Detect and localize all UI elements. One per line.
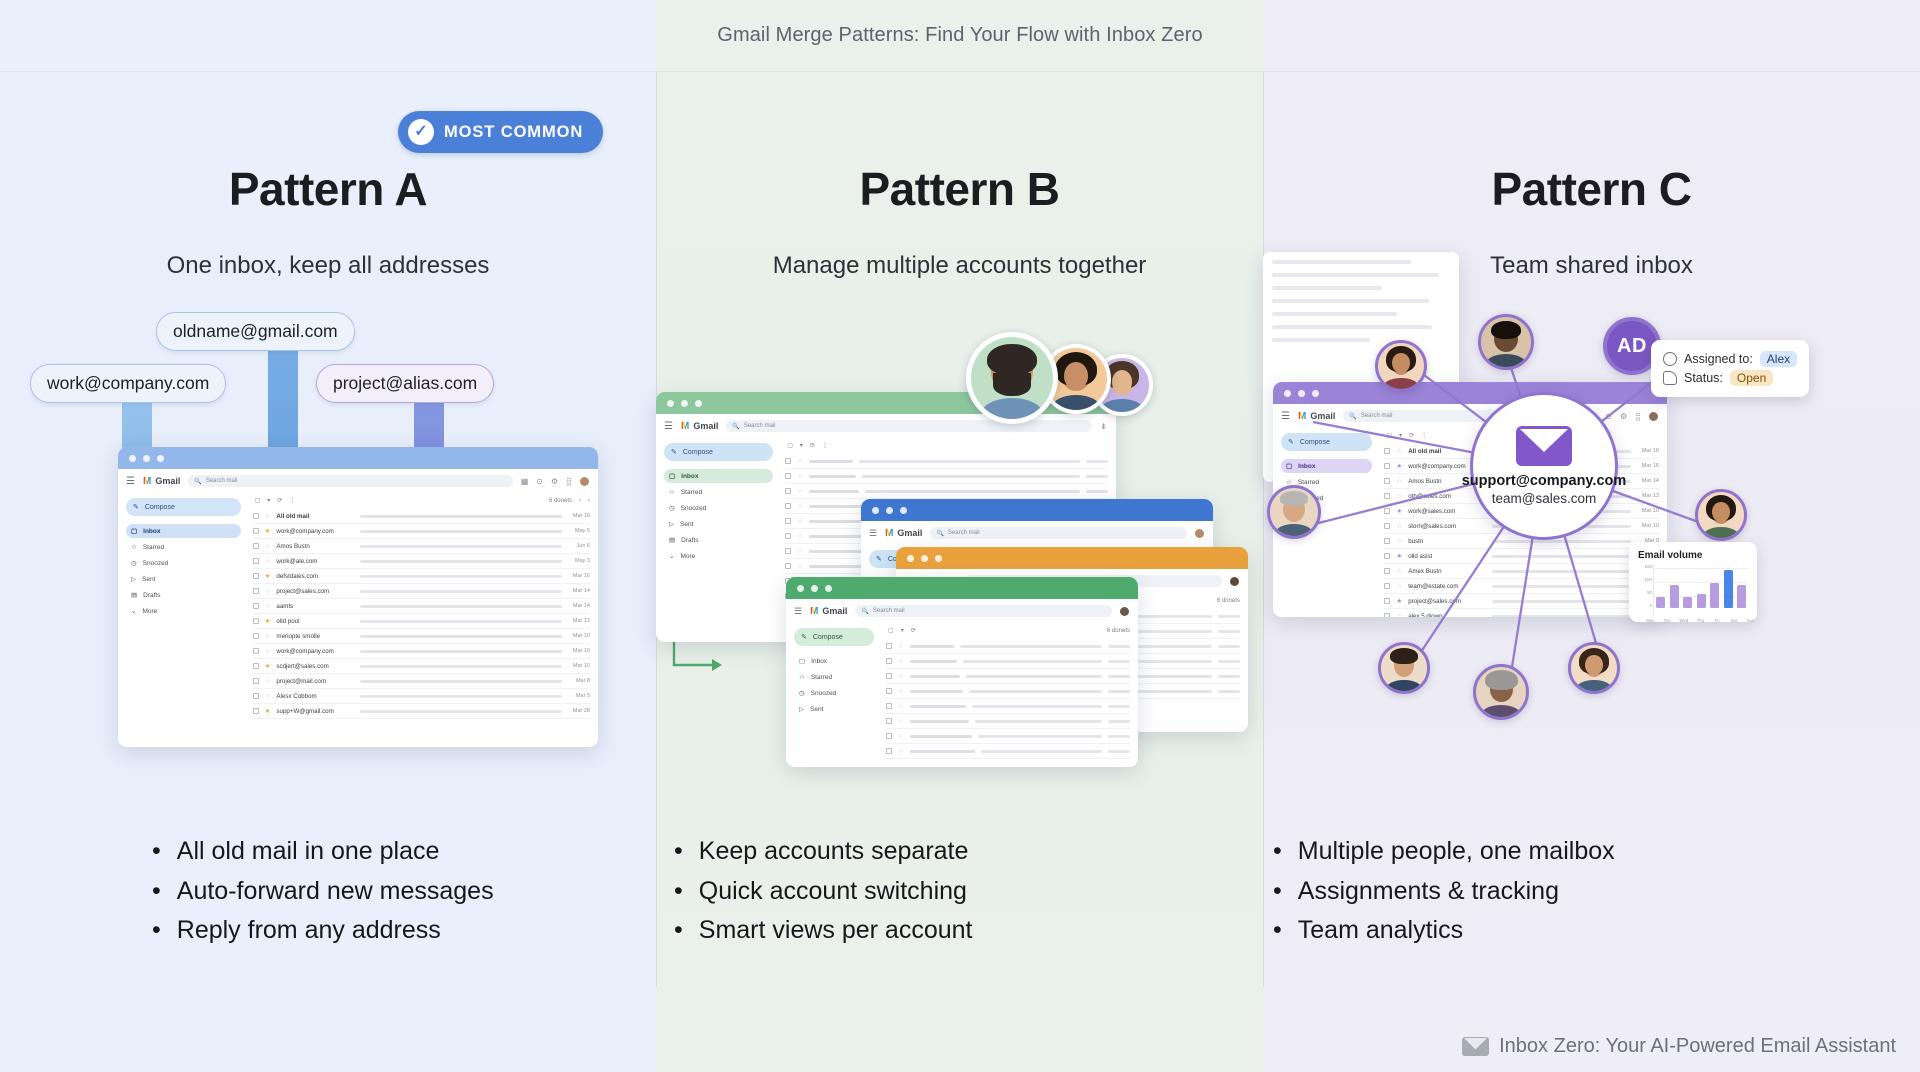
avatar-member-bottom-center[interactable]	[1473, 664, 1529, 720]
row-snippet	[360, 575, 562, 578]
row-snippet	[865, 490, 1080, 493]
pattern-a-title: Pattern A	[0, 162, 656, 216]
page-header: Gmail Merge Patterns: Find Your Flow wit…	[0, 0, 1920, 72]
gmail-toolbar-a: ▢ ▾ ⟳ ⋮ 6 donets ‹ ›	[253, 495, 590, 509]
row-date: Mar 13	[568, 618, 590, 624]
table-row[interactable]: ☆project@mail.comMar 8	[253, 674, 590, 689]
window-dot-close[interactable]	[872, 507, 879, 514]
table-row[interactable]: ☆	[886, 669, 1130, 684]
table-row[interactable]: ☆All old mailMar 18	[253, 509, 590, 524]
window-dot-maximize[interactable]	[695, 400, 702, 407]
gmail-list-b4: ▢ ▾ ⟳ 6 donets ☆☆☆☆☆☆☆☆	[881, 619, 1138, 767]
row-subject	[809, 505, 862, 508]
compose-label: Compose	[145, 504, 175, 511]
sidebar-item-snoozed[interactable]: ◷ Snoozed	[794, 686, 874, 700]
chart-y-tick: 50	[1647, 590, 1652, 595]
sidebar-item-snoozed[interactable]: ◷ Snoozed	[664, 501, 773, 515]
row-checkbox[interactable]	[253, 558, 259, 564]
row-date	[1086, 460, 1108, 463]
clock-icon: ◷	[669, 504, 675, 512]
row-subject	[809, 475, 856, 478]
help-icon[interactable]: ⊙	[536, 477, 543, 486]
row-snippet	[360, 545, 562, 548]
sidebar-item-drafts[interactable]: ▤ Drafts	[126, 588, 241, 602]
avatar-icon[interactable]	[1230, 577, 1239, 586]
sidebar-item-sent[interactable]: ▷ Sent	[126, 572, 241, 586]
window-dot-minimize[interactable]	[811, 585, 818, 592]
refresh-icon[interactable]: ⟳	[911, 627, 916, 634]
window-dot-maximize[interactable]	[935, 555, 942, 562]
assignee-icon	[1663, 352, 1677, 366]
hamburger-icon[interactable]: ☰	[126, 476, 135, 487]
email-pill-work[interactable]: work@company.com	[30, 364, 226, 403]
star-icon[interactable]: ☆	[265, 602, 271, 610]
star-icon[interactable]: ☆	[898, 747, 904, 755]
row-subject	[809, 520, 865, 523]
row-checkbox[interactable]	[785, 473, 791, 479]
shared-inbox-hub[interactable]: support@company.com team@sales.com	[1470, 392, 1618, 540]
row-checkbox[interactable]	[253, 663, 259, 669]
chevron-down-icon[interactable]: ▾	[901, 627, 904, 634]
star-icon: ☆	[131, 543, 137, 551]
row-checkbox[interactable]	[253, 573, 259, 579]
gmail-m-icon: M	[885, 528, 893, 539]
row-snippet	[360, 710, 562, 713]
search-input-b4[interactable]: 🔍 Search mail	[855, 605, 1112, 617]
table-row[interactable]: ☆	[785, 469, 1108, 484]
gmail-m-icon: M	[681, 421, 689, 432]
message-count: 6 donets	[1217, 598, 1240, 604]
sidebar-item-starred[interactable]: ☆ Starred	[126, 540, 241, 554]
row-snippet	[862, 475, 1080, 478]
refresh-icon[interactable]: ⟳	[277, 497, 282, 504]
chart-bar	[1697, 594, 1706, 608]
sidebar-item-more[interactable]: ⌄ More	[664, 549, 773, 563]
compose-button-b4[interactable]: ✎ Compose	[794, 628, 874, 646]
table-row[interactable]: ★olld poolMar 13	[253, 614, 590, 629]
row-checkbox[interactable]	[886, 643, 892, 649]
row-snippet	[981, 750, 1102, 753]
sidebar-label: Inbox	[681, 473, 698, 480]
apps-icon[interactable]: ▦	[521, 477, 529, 486]
grid-icon[interactable]: ⣿	[566, 477, 572, 486]
search-placeholder: Search mail	[206, 478, 238, 484]
more-options-icon[interactable]: ⋮	[822, 442, 828, 449]
row-checkbox[interactable]	[886, 673, 892, 679]
assignment-card[interactable]: Assigned to: Alex Status: Open	[1651, 340, 1809, 397]
star-icon[interactable]: ☆	[797, 472, 803, 480]
row-checkbox[interactable]	[785, 563, 791, 569]
chart-x-axis: MonTueWedThuFriSatSun	[1646, 618, 1755, 623]
row-date	[1108, 720, 1130, 723]
row-date	[1218, 615, 1240, 618]
star-icon[interactable]: ☆	[898, 732, 904, 740]
star-icon[interactable]: ☆	[797, 532, 803, 540]
row-checkbox[interactable]	[785, 458, 791, 464]
star-icon[interactable]: ☆	[898, 717, 904, 725]
pencil-icon: ✎	[671, 448, 677, 456]
table-row[interactable]: ☆meriopte smolleMar 10	[253, 629, 590, 644]
star-icon[interactable]: ☆	[898, 702, 904, 710]
table-row[interactable]: ★scdjert@sales.comMar 10	[253, 659, 590, 674]
gmail-list-a: ▢ ▾ ⟳ ⋮ 6 donets ‹ › ☆All old mailMar 18…	[248, 489, 598, 747]
list-item: Team analytics	[1273, 911, 1920, 950]
row-checkbox[interactable]	[253, 633, 259, 639]
row-subject: aamts	[276, 603, 354, 610]
star-icon[interactable]: ☆	[265, 692, 271, 700]
chevron-down-icon[interactable]: ▾	[800, 442, 803, 449]
row-subject: defstdales.com	[276, 573, 354, 580]
star-icon[interactable]: ☆	[898, 687, 904, 695]
chart-y-axis: 150100500	[1638, 564, 1653, 614]
sidebar-label: Sent	[142, 576, 155, 583]
window-dot-close[interactable]	[907, 555, 914, 562]
row-snippet	[360, 605, 562, 608]
star-icon[interactable]: ★	[265, 662, 271, 670]
row-checkbox[interactable]	[253, 543, 259, 549]
row-checkbox[interactable]	[785, 488, 791, 494]
sidebar-item-inbox[interactable]: ▢ Inbox	[794, 654, 874, 668]
star-icon[interactable]: ☆	[797, 547, 803, 555]
row-checkbox[interactable]	[785, 548, 791, 554]
window-dot-close[interactable]	[129, 455, 136, 462]
row-date	[1086, 475, 1108, 478]
gmail-header: ☰ M Gmail 🔍 Search mail	[861, 521, 1213, 541]
sidebar-item-sent[interactable]: ▷ Sent	[794, 702, 874, 716]
hamburger-icon[interactable]: ☰	[794, 606, 802, 617]
clock-icon: ◷	[799, 689, 805, 697]
pattern-c-column: Pattern C Team shared inbox	[1263, 72, 1920, 1072]
star-icon[interactable]: ☆	[265, 632, 271, 640]
envelope-icon	[1516, 426, 1572, 466]
star-icon[interactable]: ☆	[898, 657, 904, 665]
row-subject: olld pool	[276, 618, 354, 625]
sidebar-item-more[interactable]: ⌄ More	[126, 604, 241, 618]
table-row[interactable]: ☆aamtsMar 14	[253, 599, 590, 614]
star-icon[interactable]: ☆	[797, 457, 803, 465]
table-row[interactable]: ☆	[886, 699, 1130, 714]
window-dot-minimize[interactable]	[143, 455, 150, 462]
gmail-sidebar-b: ✎ Compose ▢ Inbox ☆ Starred ◷ Snoozed	[656, 434, 780, 642]
row-subject	[809, 490, 859, 493]
row-checkbox[interactable]	[253, 618, 259, 624]
table-row[interactable]: ☆project@sales.comMar 14	[253, 584, 590, 599]
window-dot-maximize[interactable]	[825, 585, 832, 592]
row-date: May 5	[568, 528, 590, 534]
table-row[interactable]: ☆	[886, 714, 1130, 729]
star-icon[interactable]: ☆	[265, 587, 271, 595]
gmail-window-a[interactable]: ☰ M Gmail 🔍 Search mail ▦ ⊙ ⚙ ⣿ ✎	[118, 447, 598, 747]
filter-icon[interactable]: ⇟	[1100, 422, 1107, 431]
table-row[interactable]: ☆Alesx CobbomMar 5	[253, 689, 590, 704]
inbox-icon: ▢	[669, 472, 675, 480]
chart-x-tick: Fri	[1713, 618, 1722, 623]
sidebar-item-starred[interactable]: ☆ Starred	[664, 485, 773, 499]
sidebar-label: Starred	[811, 674, 832, 681]
sidebar-label: Sent	[810, 706, 823, 713]
window-dot-maximize[interactable]	[157, 455, 164, 462]
row-date: Mar 18	[568, 513, 590, 519]
window-titlebar	[118, 447, 598, 469]
row-checkbox[interactable]	[253, 708, 259, 714]
star-icon[interactable]: ☆	[265, 557, 271, 565]
table-row[interactable]: ★work@company.comMay 5	[253, 524, 590, 539]
table-row[interactable]: ★supp+W@gmail.comMar 28	[253, 704, 590, 719]
status-row: Status: Open	[1663, 370, 1797, 386]
row-date: Mar 16	[568, 573, 590, 579]
assignment-value: Alex	[1760, 351, 1797, 367]
row-snippet	[960, 645, 1102, 648]
table-row[interactable]: ☆	[886, 744, 1130, 759]
gmail-brand-label: Gmail	[693, 421, 718, 431]
star-icon[interactable]: ☆	[265, 677, 271, 685]
window-dot-minimize[interactable]	[921, 555, 928, 562]
row-checkbox[interactable]	[785, 533, 791, 539]
avatar-member-upper-left[interactable]	[1375, 340, 1427, 392]
star-icon[interactable]: ☆	[797, 562, 803, 570]
row-date	[1108, 660, 1130, 663]
chart-bar	[1670, 585, 1679, 608]
row-date	[1108, 690, 1130, 693]
list-item: Smart views per account	[674, 911, 1263, 950]
star-icon[interactable]: ☆	[797, 487, 803, 495]
list-item: Assignments & tracking	[1273, 872, 1920, 911]
list-item: All old mail in one place	[152, 832, 656, 871]
row-date: Mar 14	[568, 588, 590, 594]
next-page-icon[interactable]: ›	[588, 498, 590, 504]
tag-icon	[1663, 371, 1677, 385]
send-icon: ▷	[669, 520, 674, 528]
row-snippet	[966, 675, 1102, 678]
row-checkbox[interactable]	[886, 748, 892, 754]
table-row[interactable]: ☆	[785, 454, 1108, 469]
search-input-b[interactable]: 🔍 Search mail	[726, 420, 1092, 432]
gmail-window-b-front[interactable]: ☰ M Gmail 🔍 Search mail ✎ Compose	[786, 577, 1138, 767]
gmail-toolbar-b4: ▢ ▾ ⟳ 6 donets	[886, 625, 1130, 639]
row-checkbox[interactable]	[253, 678, 259, 684]
table-row[interactable]: ☆work@ale.comMay 3	[253, 554, 590, 569]
star-icon[interactable]: ☆	[797, 502, 803, 510]
chart-x-tick: Sat	[1729, 618, 1738, 623]
row-date	[1086, 490, 1108, 493]
avatar-member-left[interactable]	[1267, 485, 1321, 539]
row-date	[1108, 750, 1130, 753]
settings-icon[interactable]: ⚙	[551, 477, 558, 486]
list-item: Keep accounts separate	[674, 832, 1263, 871]
select-all-checkbox[interactable]: ▢	[888, 627, 894, 634]
row-subject: Amos Bustn	[276, 543, 354, 550]
gmail-body-a: ✎ Compose ▢ Inbox ☆ Starred ◷ Snoozed	[118, 489, 598, 747]
avatar-member-bottom-left[interactable]	[1378, 642, 1430, 694]
pattern-b-column: Pattern B Manage multiple accounts toget…	[656, 72, 1263, 1072]
row-subject	[910, 675, 960, 678]
row-checkbox[interactable]	[253, 648, 259, 654]
sidebar-label: Starred	[681, 489, 702, 496]
star-icon[interactable]: ☆	[898, 642, 904, 650]
pencil-icon: ✎	[801, 633, 807, 641]
row-checkbox[interactable]	[253, 513, 259, 519]
sidebar-label: Drafts	[681, 537, 698, 544]
select-all-checkbox[interactable]: ▢	[787, 442, 793, 449]
table-row[interactable]: ☆	[886, 684, 1130, 699]
pattern-a-benefits: All old mail in one place Auto-forward n…	[0, 832, 656, 950]
row-snippet	[972, 705, 1102, 708]
chart-bar	[1737, 585, 1746, 608]
window-titlebar	[786, 577, 1138, 599]
envelope-icon	[1462, 1037, 1489, 1056]
most-common-badge: ✓ MOST COMMON	[398, 111, 603, 153]
refresh-icon[interactable]: ⟳	[810, 442, 815, 449]
email-volume-chart[interactable]: Email volume 150100500 MonTueWedThuFriSa…	[1629, 542, 1757, 622]
sidebar-item-inbox[interactable]: ▢ Inbox	[664, 469, 773, 483]
hamburger-icon[interactable]: ☰	[664, 421, 673, 432]
pattern-b-illustration: ☰ M Gmail 🔍 Search mail ⇟ ✎ Compose	[656, 372, 1263, 792]
star-icon[interactable]: ★	[265, 572, 271, 580]
email-pill-oldname[interactable]: oldname@gmail.com	[156, 312, 355, 351]
gmail-logo: M Gmail	[143, 476, 180, 487]
row-checkbox[interactable]	[785, 503, 791, 509]
row-date	[1108, 645, 1130, 648]
chart-bars	[1656, 564, 1746, 608]
gmail-header: ☰ M Gmail 🔍 Search mail ▦ ⊙ ⚙ ⣿	[118, 469, 598, 489]
sidebar-item-starred[interactable]: ☆ Starred	[794, 670, 874, 684]
hub-primary-email: support@company.com	[1462, 473, 1627, 489]
star-icon[interactable]: ☆	[797, 517, 803, 525]
row-subject: work@ale.com	[276, 558, 354, 565]
star-icon: ☆	[669, 488, 675, 496]
star-icon[interactable]: ★	[265, 617, 271, 625]
sidebar-label: Snoozed	[143, 560, 169, 567]
avatar-team-member-1[interactable]	[966, 332, 1058, 424]
star-icon[interactable]: ☆	[265, 512, 271, 520]
chart-y-tick: 100	[1644, 577, 1652, 582]
row-checkbox[interactable]	[886, 703, 892, 709]
compose-button-a[interactable]: ✎ Compose	[126, 498, 241, 516]
row-date: May 3	[568, 558, 590, 564]
table-row[interactable]: ☆	[886, 654, 1130, 669]
table-row[interactable]: ☆Amos BustnJun 6	[253, 539, 590, 554]
row-date	[1218, 630, 1240, 633]
row-date	[1218, 660, 1240, 663]
search-icon: 🔍	[732, 423, 739, 430]
search-placeholder: Search mail	[873, 608, 905, 614]
select-all-checkbox[interactable]: ▢	[255, 497, 261, 504]
pattern-a-column: ✓ MOST COMMON Pattern A One inbox, keep …	[0, 72, 656, 1072]
row-date: Mar 10	[568, 663, 590, 669]
row-subject: work@company.com	[276, 528, 354, 535]
search-input-b2[interactable]: 🔍 Search mail	[930, 527, 1187, 539]
row-checkbox[interactable]	[886, 688, 892, 694]
row-checkbox[interactable]	[253, 693, 259, 699]
list-item: Auto-forward new messages	[152, 872, 656, 911]
chevron-down-icon[interactable]: ▾	[267, 497, 270, 504]
sidebar-item-drafts[interactable]: ▤ Drafts	[664, 533, 773, 547]
row-subject: project@sales.com	[276, 588, 354, 595]
chart-bar	[1656, 597, 1665, 608]
window-dot-maximize[interactable]	[900, 507, 907, 514]
row-subject: All old mail	[276, 513, 354, 520]
compose-button-b[interactable]: ✎ Compose	[664, 443, 773, 461]
row-date: Mar 10	[568, 633, 590, 639]
avatar-icon[interactable]	[1120, 607, 1129, 616]
star-icon[interactable]: ★	[265, 707, 271, 715]
prev-page-icon[interactable]: ‹	[579, 498, 581, 504]
assignment-label: Assigned to:	[1684, 352, 1753, 366]
pattern-b-title: Pattern B	[656, 162, 1263, 216]
email-pill-project[interactable]: project@alias.com	[316, 364, 494, 403]
sidebar-label: Inbox	[143, 528, 160, 535]
table-row[interactable]: ★defstdales.comMar 16	[253, 569, 590, 584]
row-checkbox[interactable]	[886, 733, 892, 739]
sidebar-label: More	[680, 553, 695, 560]
more-options-icon[interactable]: ⋮	[289, 497, 295, 504]
sidebar-item-inbox[interactable]: ▢ Inbox	[126, 524, 241, 538]
star-icon[interactable]: ☆	[265, 542, 271, 550]
row-checkbox[interactable]	[886, 718, 892, 724]
star-icon[interactable]: ☆	[265, 647, 271, 655]
window-dot-minimize[interactable]	[681, 400, 688, 407]
avatar-member-right[interactable]	[1695, 489, 1747, 541]
row-checkbox[interactable]	[785, 518, 791, 524]
page-title: Gmail Merge Patterns: Find Your Flow wit…	[717, 24, 1202, 47]
pencil-icon: ✎	[876, 555, 882, 563]
status-label: Status:	[1684, 371, 1723, 385]
message-count: 6 donets	[549, 498, 572, 504]
search-icon: 🔍	[194, 478, 201, 485]
avatar-member-top[interactable]	[1478, 314, 1534, 370]
table-row[interactable]: ☆	[785, 484, 1108, 499]
window-dot-close[interactable]	[797, 585, 804, 592]
sidebar-item-sent[interactable]: ▷ Sent	[664, 517, 773, 531]
sidebar-label: More	[142, 608, 157, 615]
avatar-member-bottom-right[interactable]	[1568, 642, 1620, 694]
row-date: Mar 8	[568, 678, 590, 684]
table-row[interactable]: ☆	[886, 729, 1130, 744]
avatar-icon[interactable]	[580, 477, 589, 486]
search-placeholder: Search mail	[744, 423, 776, 429]
star-icon[interactable]: ☆	[898, 672, 904, 680]
row-checkbox[interactable]	[253, 603, 259, 609]
row-checkbox[interactable]	[886, 658, 892, 664]
window-dot-close[interactable]	[667, 400, 674, 407]
chart-x-tick: Thu	[1696, 618, 1705, 623]
search-input-a[interactable]: 🔍 Search mail	[188, 475, 512, 487]
hamburger-icon[interactable]: ☰	[869, 528, 877, 539]
row-snippet	[360, 665, 562, 668]
sidebar-label: Snoozed	[811, 690, 837, 697]
table-row[interactable]: ☆	[886, 639, 1130, 654]
avatar-icon[interactable]	[1195, 529, 1204, 538]
row-date: Jun 6	[568, 543, 590, 549]
star-icon[interactable]: ★	[265, 527, 271, 535]
check-circle-icon: ✓	[408, 119, 434, 145]
row-snippet	[975, 720, 1102, 723]
row-snippet	[963, 660, 1102, 663]
row-checkbox[interactable]	[253, 528, 259, 534]
row-date	[1218, 690, 1240, 693]
sidebar-item-snoozed[interactable]: ◷ Snoozed	[126, 556, 241, 570]
row-snippet	[360, 650, 562, 653]
sidebar-label: Starred	[143, 544, 164, 551]
chart-x-tick: Sun	[1746, 618, 1755, 623]
table-row[interactable]: ☆work@company.comMar 10	[253, 644, 590, 659]
window-dot-minimize[interactable]	[886, 507, 893, 514]
row-subject	[910, 705, 966, 708]
row-subject: scdjert@sales.com	[276, 663, 354, 670]
row-checkbox[interactable]	[253, 588, 259, 594]
mail-rows-b4: ☆☆☆☆☆☆☆☆	[886, 639, 1130, 759]
chart-bar	[1683, 597, 1692, 608]
